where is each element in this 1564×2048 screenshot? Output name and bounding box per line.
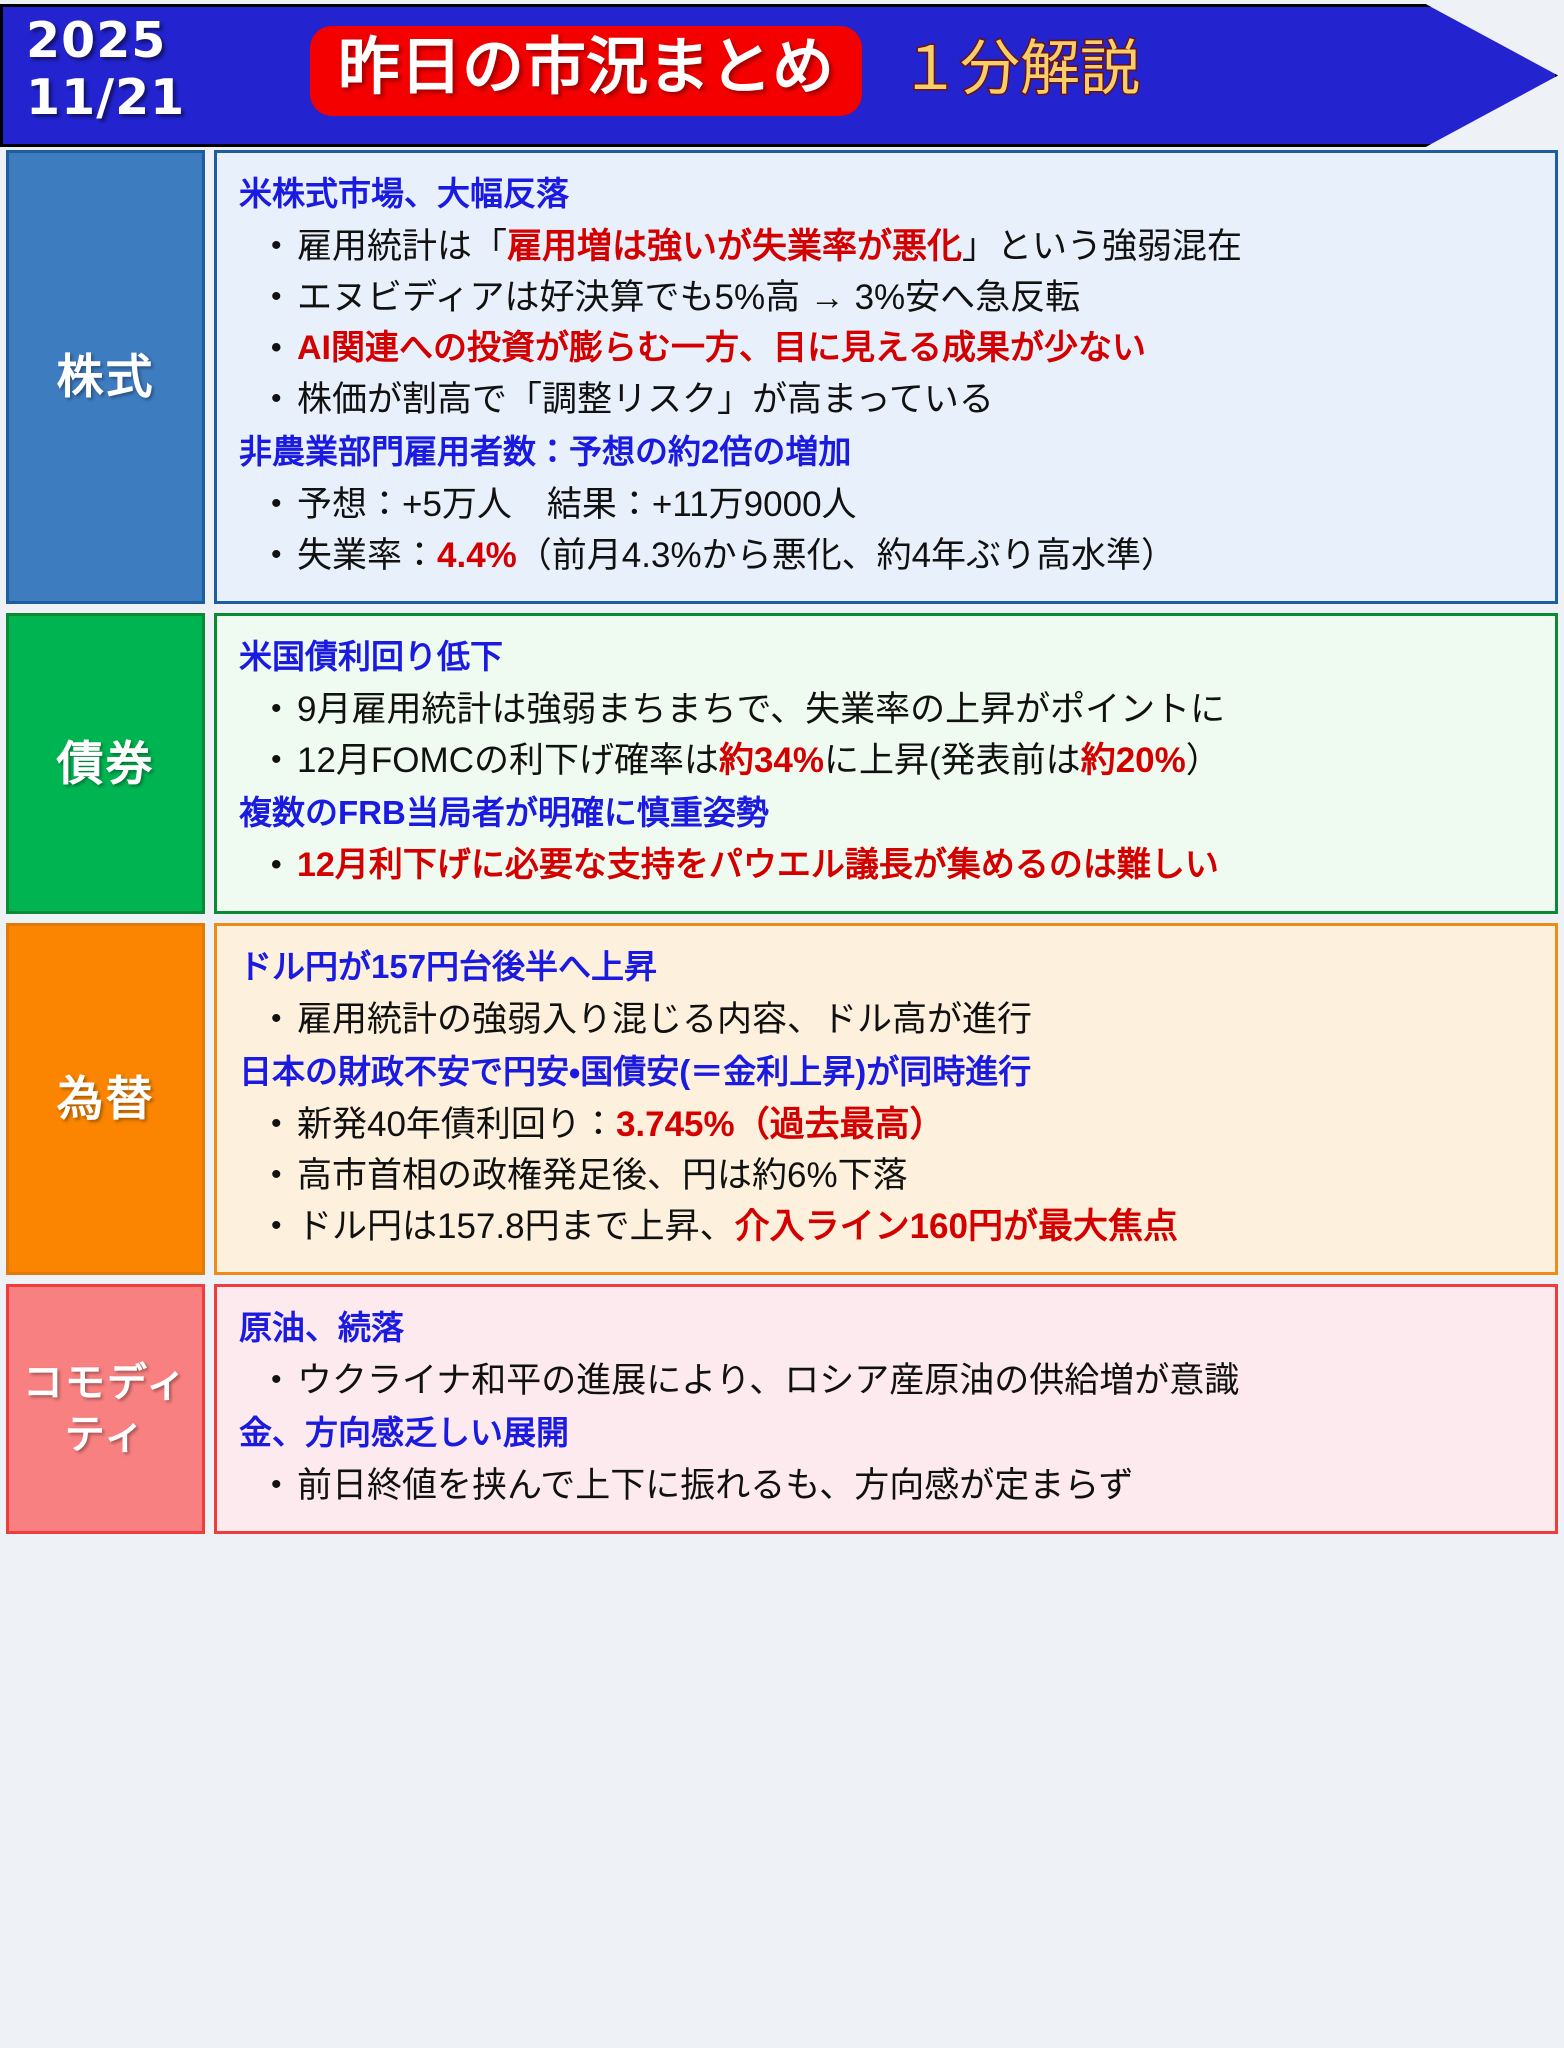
bullet-item: エヌビディアは好決算でも5%高 → 3%安へ急反転 [297, 272, 1537, 323]
bullet-text: エヌビディアは好決算でも5%高 → 3%安へ急反転 [297, 278, 1080, 317]
bullet-text: 前日終値を挟んで上下に振れるも、方向感が定まらず [297, 1466, 1134, 1505]
bullet-text: ） [1186, 741, 1221, 780]
bullet-text: 12月FOMCの利下げ確率は [297, 741, 719, 780]
section-label-bonds: 債券 [6, 613, 205, 914]
bullet-list: 12月利下げに必要な支持をパウエル議長が集めるのは難しい [239, 840, 1537, 891]
highlight-text: 介入ライン160円が最大焦点 [735, 1207, 1178, 1246]
highlight-text: 約34% [719, 741, 824, 780]
section-heading: 日本の財政不安で円安・国債安(＝金利上昇)が同時進行 [239, 1049, 1537, 1095]
bullet-item: AI関連への投資が膨らむ一方、目に見える成果が少ない [297, 323, 1537, 374]
section-body-commodity: 原油、続落ウクライナ和平の進展により、ロシア産原油の供給増が意識金、方向感乏しい… [214, 1284, 1558, 1534]
section-body-stocks: 米株式市場、大幅反落雇用統計は「雇用増は強いが失業率が悪化」という強弱混在エヌビ… [214, 150, 1558, 604]
header-subtitle: １分解説 [900, 32, 1140, 106]
bullet-list: ウクライナ和平の進展により、ロシア産原油の供給増が意識 [239, 1355, 1537, 1406]
bullet-item: 失業率：4.4%（前月4.3%から悪化、約4年ぶり高水準） [297, 530, 1537, 581]
infographic-page: 2025 11/21 昨日の市況まとめ １分解説 株式米株式市場、大幅反落雇用統… [0, 0, 1564, 2048]
bullet-text: （前月4.3%から悪化、約4年ぶり高水準） [517, 536, 1176, 575]
bullet-item: 前日終値を挟んで上下に振れるも、方向感が定まらず [297, 1460, 1537, 1511]
bullet-item: 株価が割高で「調整リスク」が高まっている [297, 374, 1537, 425]
section-heading: 原油、続落 [239, 1305, 1537, 1351]
bullet-item: 12月FOMCの利下げ確率は約34%に上昇(発表前は約20%） [297, 735, 1537, 786]
bullet-item: ウクライナ和平の進展により、ロシア産原油の供給増が意識 [297, 1355, 1537, 1406]
bullet-text: 株価が割高で「調整リスク」が高まっている [297, 380, 994, 419]
highlight-text: 4.4% [437, 536, 517, 575]
bullet-item: 予想：+5万人 結果：+11万9000人 [297, 479, 1537, 530]
bullet-text: 新発40年債利回り： [297, 1105, 616, 1144]
sections-container: 株式米株式市場、大幅反落雇用統計は「雇用増は強いが失業率が悪化」という強弱混在エ… [0, 150, 1564, 1534]
bullet-text: 予想：+5万人 結果：+11万9000人 [297, 485, 857, 524]
header-year: 2025 [26, 12, 185, 69]
section-label-stocks: 株式 [6, 150, 205, 604]
bullet-item: 新発40年債利回り：3.745%（過去最高） [297, 1099, 1537, 1150]
section-body-bonds: 米国債利回り低下9月雇用統計は強弱まちまちで、失業率の上昇がポイントに12月FO… [214, 613, 1558, 914]
section-heading: 非農業部門雇用者数：予想の約2倍の増加 [239, 429, 1537, 475]
bullet-text: 9月雇用統計は強弱まちまちで、失業率の上昇がポイントに [297, 690, 1225, 729]
highlight-text: 3.745%（過去最高） [616, 1105, 945, 1144]
bullet-list: 新発40年債利回り：3.745%（過去最高）高市首相の政権発足後、円は約6%下落… [239, 1099, 1537, 1252]
section-bonds: 債券米国債利回り低下9月雇用統計は強弱まちまちで、失業率の上昇がポイントに12月… [6, 613, 1558, 914]
bullet-text: 」という強弱混在 [962, 227, 1242, 266]
highlight-text: 雇用増は強いが失業率が悪化 [507, 227, 962, 266]
bullet-item: 雇用統計は「雇用増は強いが失業率が悪化」という強弱混在 [297, 221, 1537, 272]
section-heading: 米株式市場、大幅反落 [239, 171, 1537, 217]
bullet-list: 雇用統計は「雇用増は強いが失業率が悪化」という強弱混在エヌビディアは好決算でも5… [239, 221, 1537, 425]
bullet-text: 失業率： [297, 536, 437, 575]
bullet-text: ドル円は157.8円まで上昇、 [297, 1207, 735, 1246]
section-heading: 米国債利回り低下 [239, 634, 1537, 680]
section-label-commodity: コモディティ [6, 1284, 205, 1534]
bullet-text: に上昇(発表前は [824, 741, 1081, 780]
bullet-item: ドル円は157.8円まで上昇、介入ライン160円が最大焦点 [297, 1201, 1537, 1252]
section-label-fx: 為替 [6, 923, 205, 1275]
highlight-text: 12月利下げに必要な支持をパウエル議長が集めるのは難しい [297, 846, 1219, 884]
bullet-item: 高市首相の政権発足後、円は約6%下落 [297, 1150, 1537, 1201]
bullet-text: ウクライナ和平の進展により、ロシア産原油の供給増が意識 [297, 1361, 1239, 1400]
header-title: 昨日の市況まとめ [310, 26, 862, 116]
header-banner: 2025 11/21 昨日の市況まとめ １分解説 [0, 0, 1564, 150]
bullet-list: 前日終値を挟んで上下に振れるも、方向感が定まらず [239, 1460, 1537, 1511]
highlight-text: 約20% [1081, 741, 1186, 780]
section-fx: 為替ドル円が157円台後半へ上昇雇用統計の強弱入り混じる内容、ドル高が進行日本の… [6, 923, 1558, 1275]
bullet-list: 雇用統計の強弱入り混じる内容、ドル高が進行 [239, 994, 1537, 1045]
header-date: 2025 11/21 [26, 12, 185, 126]
bullet-item: 9月雇用統計は強弱まちまちで、失業率の上昇がポイントに [297, 684, 1537, 735]
section-commodity: コモディティ原油、続落ウクライナ和平の進展により、ロシア産原油の供給増が意識金、… [6, 1284, 1558, 1534]
section-heading: ドル円が157円台後半へ上昇 [239, 944, 1537, 990]
bullet-item: 12月利下げに必要な支持をパウエル議長が集めるのは難しい [297, 840, 1537, 891]
section-body-fx: ドル円が157円台後半へ上昇雇用統計の強弱入り混じる内容、ドル高が進行日本の財政… [214, 923, 1558, 1275]
section-heading: 複数のFRB当局者が明確に慎重姿勢 [239, 790, 1537, 836]
bullet-list: 9月雇用統計は強弱まちまちで、失業率の上昇がポイントに12月FOMCの利下げ確率… [239, 684, 1537, 786]
bullet-list: 予想：+5万人 結果：+11万9000人失業率：4.4%（前月4.3%から悪化、… [239, 479, 1537, 581]
section-stocks: 株式米株式市場、大幅反落雇用統計は「雇用増は強いが失業率が悪化」という強弱混在エ… [6, 150, 1558, 604]
bullet-text: 雇用統計の強弱入り混じる内容、ドル高が進行 [297, 1000, 1032, 1039]
bullet-text: 高市首相の政権発足後、円は約6%下落 [297, 1156, 908, 1195]
highlight-text: AI関連への投資が膨らむ一方、目に見える成果が少ない [297, 329, 1146, 367]
header-day: 11/21 [26, 69, 185, 126]
bullet-text: 雇用統計は「 [297, 227, 507, 266]
section-heading: 金、方向感乏しい展開 [239, 1410, 1537, 1456]
bullet-item: 雇用統計の強弱入り混じる内容、ドル高が進行 [297, 994, 1537, 1045]
